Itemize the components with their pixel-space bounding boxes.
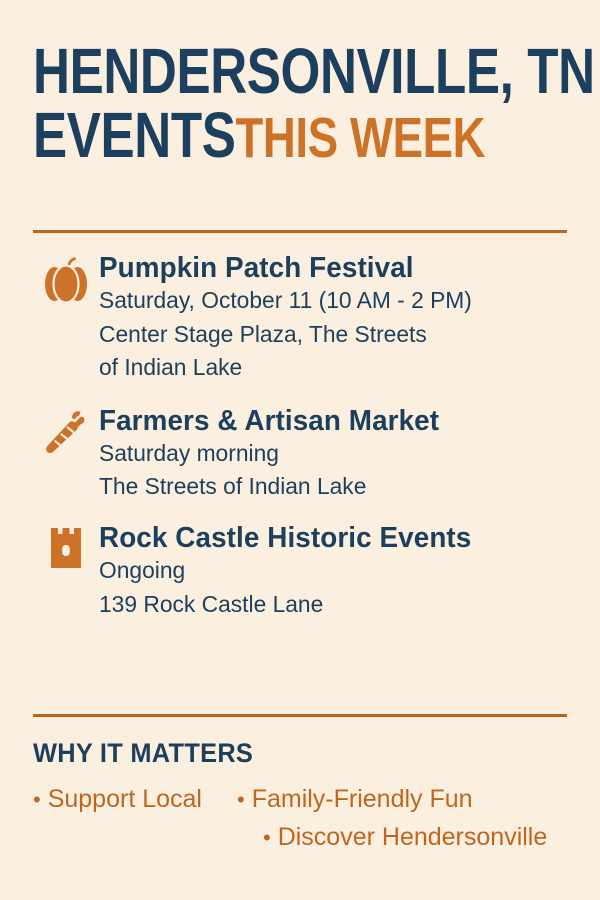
list-item-label: Support Local — [48, 785, 202, 813]
event-title: Pumpkin Patch Festival — [99, 252, 548, 284]
list-item: Pumpkin Patch Festival Saturday, October… — [33, 252, 567, 385]
title-accent-word: THIS WEEK — [235, 106, 485, 170]
bullet-icon: • — [237, 787, 245, 812]
carrot-icon — [33, 405, 99, 455]
why-it-matters-section: WHY IT MATTERS •Support Local •Family-Fr… — [33, 738, 573, 856]
bullet-icon: • — [263, 825, 271, 850]
divider-top — [33, 230, 567, 233]
infographic-poster: HENDERSONVILLE, TN EVENTSTHIS WEEK Pumpk… — [0, 0, 600, 900]
event-body: Farmers & Artisan Market Saturday mornin… — [99, 405, 567, 504]
list-item-label: Discover Hendersonville — [278, 823, 548, 851]
event-title: Farmers & Artisan Market — [99, 405, 548, 437]
list-item: Rock Castle Historic Events Ongoing 139 … — [33, 522, 567, 621]
list-item: •Family-Friendly Fun — [237, 781, 473, 819]
event-detail: Saturday morning — [99, 437, 553, 470]
list-item-label: Family-Friendly Fun — [252, 785, 473, 813]
event-detail: Ongoing — [99, 554, 553, 587]
list-item: Farmers & Artisan Market Saturday mornin… — [33, 405, 567, 504]
event-detail: 139 Rock Castle Lane — [99, 588, 553, 621]
title-line-2: EVENTSTHIS WEEK — [33, 106, 460, 165]
castle-tower-icon — [33, 522, 99, 572]
divider-bottom — [33, 714, 567, 717]
section-heading: WHY IT MATTERS — [33, 738, 541, 769]
event-detail: The Streets of Indian Lake — [99, 470, 553, 503]
event-body: Rock Castle Historic Events Ongoing 139 … — [99, 522, 567, 621]
page-title: HENDERSONVILLE, TN EVENTSTHIS WEEK — [33, 42, 567, 165]
list-item: •Support Local — [33, 781, 202, 819]
list-item: •Discover Hendersonville — [263, 819, 547, 857]
event-body: Pumpkin Patch Festival Saturday, October… — [99, 252, 567, 385]
pumpkin-icon — [33, 252, 99, 304]
events-list: Pumpkin Patch Festival Saturday, October… — [33, 252, 567, 621]
title-events-word: EVENTS — [33, 99, 235, 171]
event-detail: of Indian Lake — [99, 351, 553, 384]
bullet-icon: • — [33, 787, 41, 812]
event-title: Rock Castle Historic Events — [99, 522, 548, 554]
benefits-list: •Support Local •Family-Friendly Fun •Dis… — [33, 781, 573, 856]
event-detail: Center Stage Plaza, The Streets — [99, 318, 553, 351]
event-detail: Saturday, October 11 (10 AM - 2 PM) — [99, 284, 553, 317]
title-line-1: HENDERSONVILLE, TN — [33, 42, 460, 101]
